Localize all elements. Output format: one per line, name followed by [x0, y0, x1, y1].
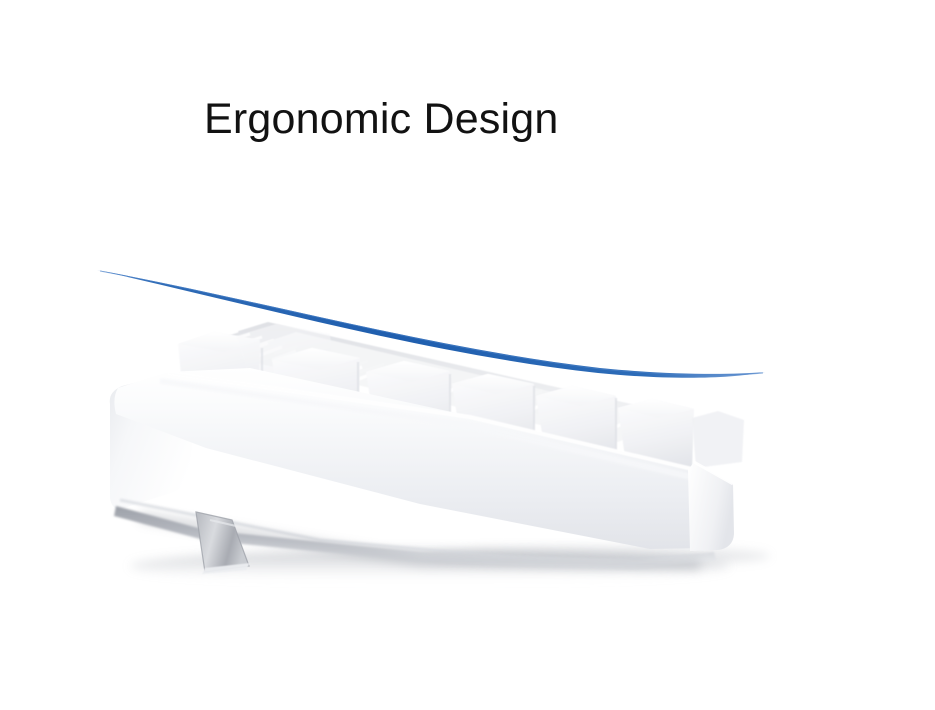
case-right-side-panel — [688, 462, 734, 551]
page-title: Ergonomic Design — [204, 98, 559, 141]
product-marketing-slide: Ergonomic Design — [0, 0, 935, 710]
